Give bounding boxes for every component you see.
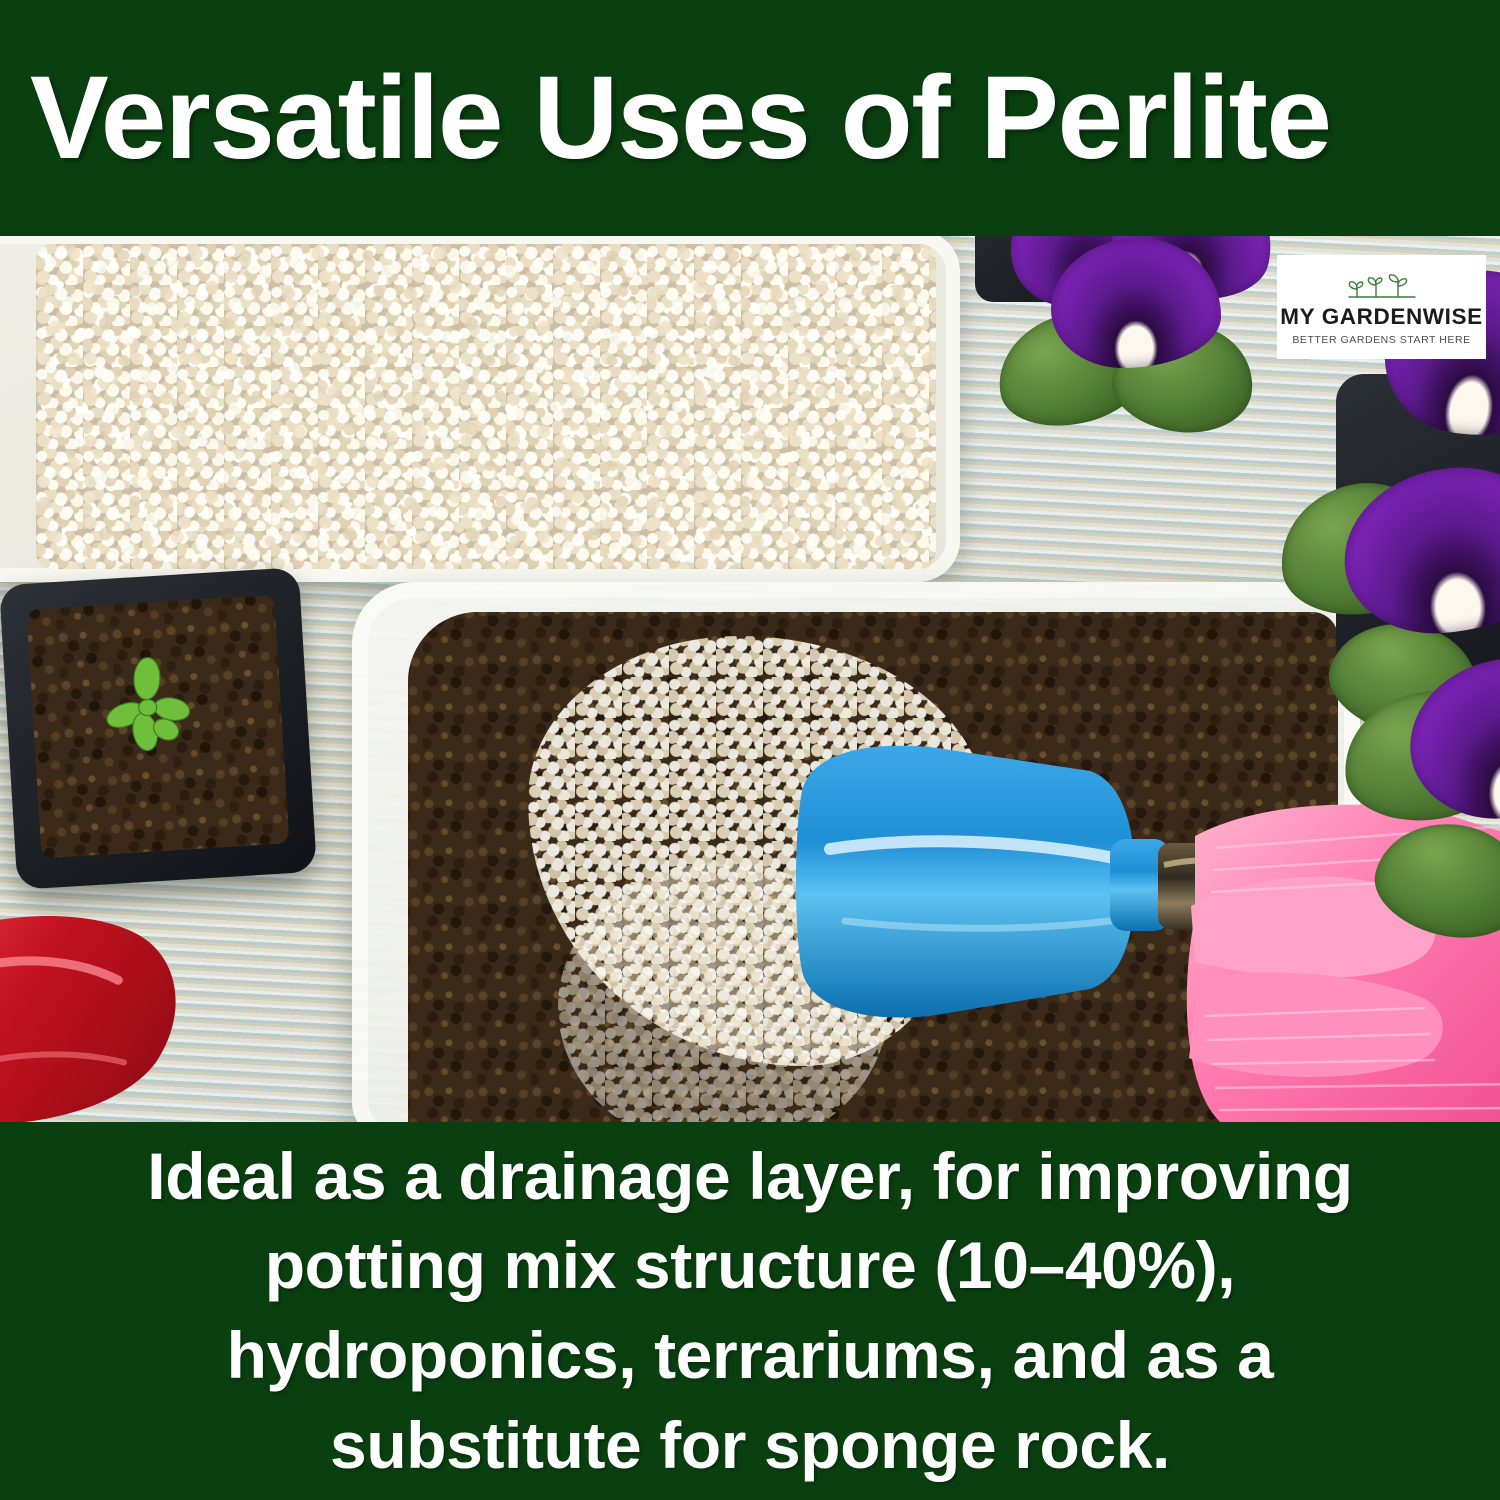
logo-tagline: BETTER GARDENS START HERE xyxy=(1292,335,1470,346)
page-title: Versatile Uses of Perlite xyxy=(0,59,1331,177)
seedling-pot xyxy=(0,567,317,890)
granule-texture-coarse xyxy=(36,244,936,569)
footer-band: Ideal as a drainage layer, for improving… xyxy=(0,1122,1500,1500)
perlite-tray xyxy=(0,236,960,582)
pansy-leaf xyxy=(1365,808,1500,953)
header-band: Versatile Uses of Perlite xyxy=(0,0,1500,236)
caption-line-4: substitute for sponge rock. xyxy=(330,1401,1170,1491)
brand-logo[interactable]: MY GARDENWISE BETTER GARDENS START HERE xyxy=(1277,255,1486,359)
caption-line-3: hydroponics, terrariums, and as a xyxy=(227,1311,1274,1401)
seedling-pot-soil xyxy=(27,595,290,859)
seedling-plant-icon xyxy=(89,649,206,766)
infographic-root: Versatile Uses of Perlite xyxy=(0,0,1500,1500)
logo-name: MY GARDENWISE xyxy=(1280,306,1482,329)
three-sprouts-icon xyxy=(1343,273,1421,303)
pansy-flower-top xyxy=(985,236,1285,466)
caption-line-1: Ideal as a drainage layer, for improving xyxy=(147,1132,1352,1222)
pansy-flower-lower-right xyxy=(1368,636,1500,936)
perlite-granules xyxy=(36,244,936,569)
hero-photo: MY GARDENWISE BETTER GARDENS START HERE xyxy=(0,236,1500,1122)
caption-line-2: potting mix structure (10–40%), xyxy=(265,1221,1235,1311)
